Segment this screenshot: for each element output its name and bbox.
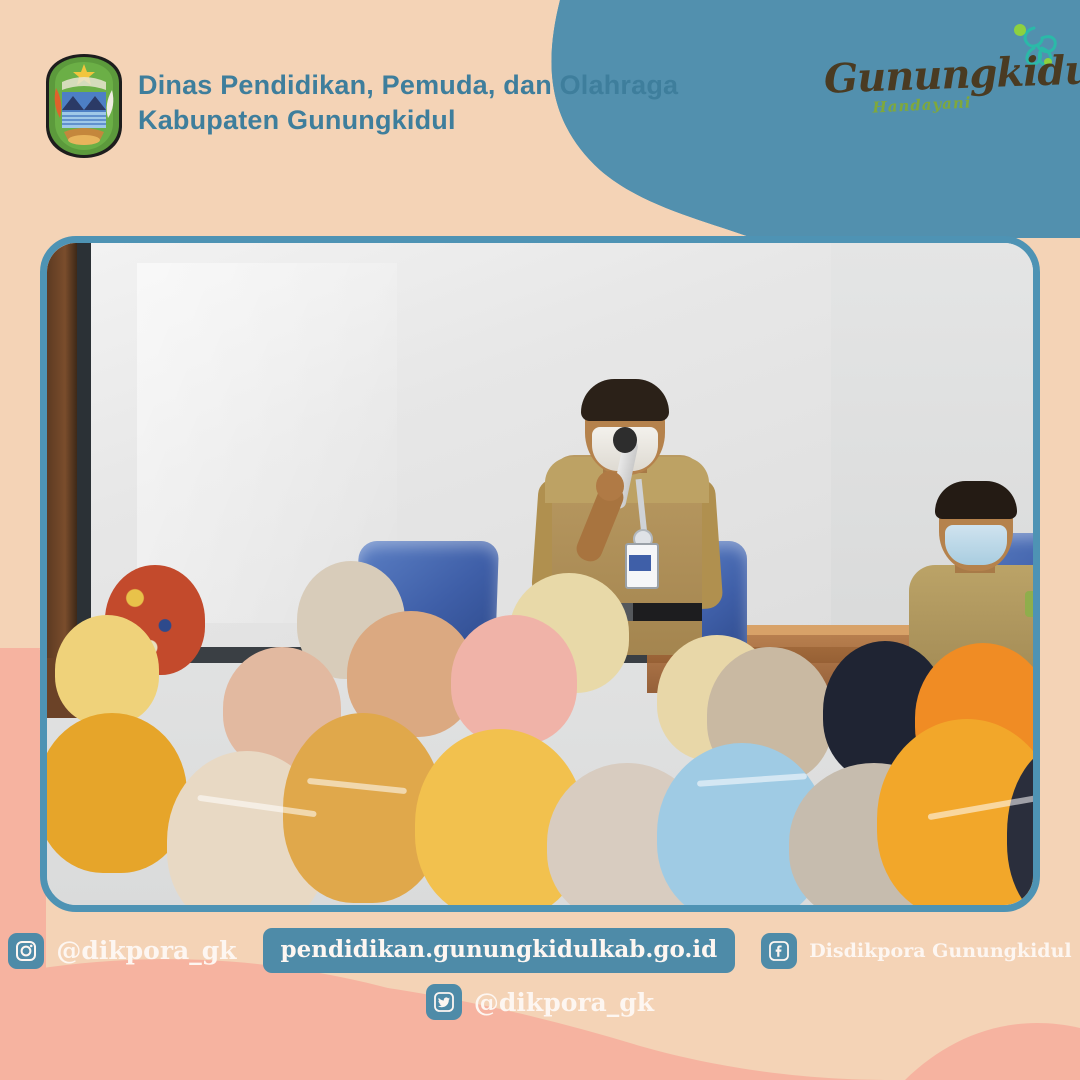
- title-line-1: Dinas Pendidikan, Pemuda, dan Olahraga: [138, 68, 798, 103]
- facebook-link[interactable]: Disdikpora Gunungkidul: [761, 933, 1071, 969]
- speaker-hair: [581, 379, 669, 421]
- instagram-handle: @dikpora_gk: [56, 936, 236, 965]
- twitter-icon[interactable]: [426, 984, 462, 1020]
- photo-frame: [40, 236, 1040, 912]
- footer-social-bar: @dikpora_gk pendidikan.gunungkidulkab.go…: [0, 912, 1080, 1080]
- audience-head: [47, 713, 187, 873]
- id-badge-photo: [629, 555, 651, 571]
- website-url-pill[interactable]: pendidikan.gunungkidulkab.go.id: [263, 928, 736, 973]
- page-title: Dinas Pendidikan, Pemuda, dan Olahraga K…: [138, 68, 798, 138]
- header: Dinas Pendidikan, Pemuda, dan Olahraga K…: [0, 0, 860, 190]
- gunungkidul-brand-logo: Gunungkidul Handayani: [824, 18, 1064, 128]
- official-face-mask: [945, 525, 1007, 565]
- audience-head: [451, 615, 577, 745]
- instagram-link[interactable]: @dikpora_gk: [8, 933, 236, 969]
- microphone-head: [613, 427, 637, 453]
- brand-wordmark: Gunungkidul: [823, 48, 1037, 102]
- audience-head: [55, 615, 159, 725]
- instagram-icon[interactable]: [8, 933, 44, 969]
- footer-row-primary: @dikpora_gk pendidikan.gunungkidulkab.go…: [0, 928, 1080, 973]
- title-line-2: Kabupaten Gunungkidul: [138, 103, 798, 138]
- facebook-page-name: Disdikpora Gunungkidul: [809, 940, 1071, 962]
- door-frame: [47, 243, 77, 658]
- post-canvas: Dinas Pendidikan, Pemuda, dan Olahraga K…: [0, 0, 1080, 1080]
- event-photo: [47, 243, 1033, 905]
- gunungkidul-regency-crest: [42, 52, 126, 160]
- official-hair: [935, 481, 1017, 519]
- speaker-hand: [596, 471, 624, 501]
- twitter-handle: @dikpora_gk: [474, 988, 654, 1017]
- facebook-icon[interactable]: [761, 933, 797, 969]
- footer-row-secondary: @dikpora_gk: [0, 984, 1080, 1020]
- uniform-shoulder-patch: [1025, 591, 1033, 617]
- door-edge: [77, 243, 91, 658]
- twitter-link[interactable]: @dikpora_gk: [426, 984, 654, 1020]
